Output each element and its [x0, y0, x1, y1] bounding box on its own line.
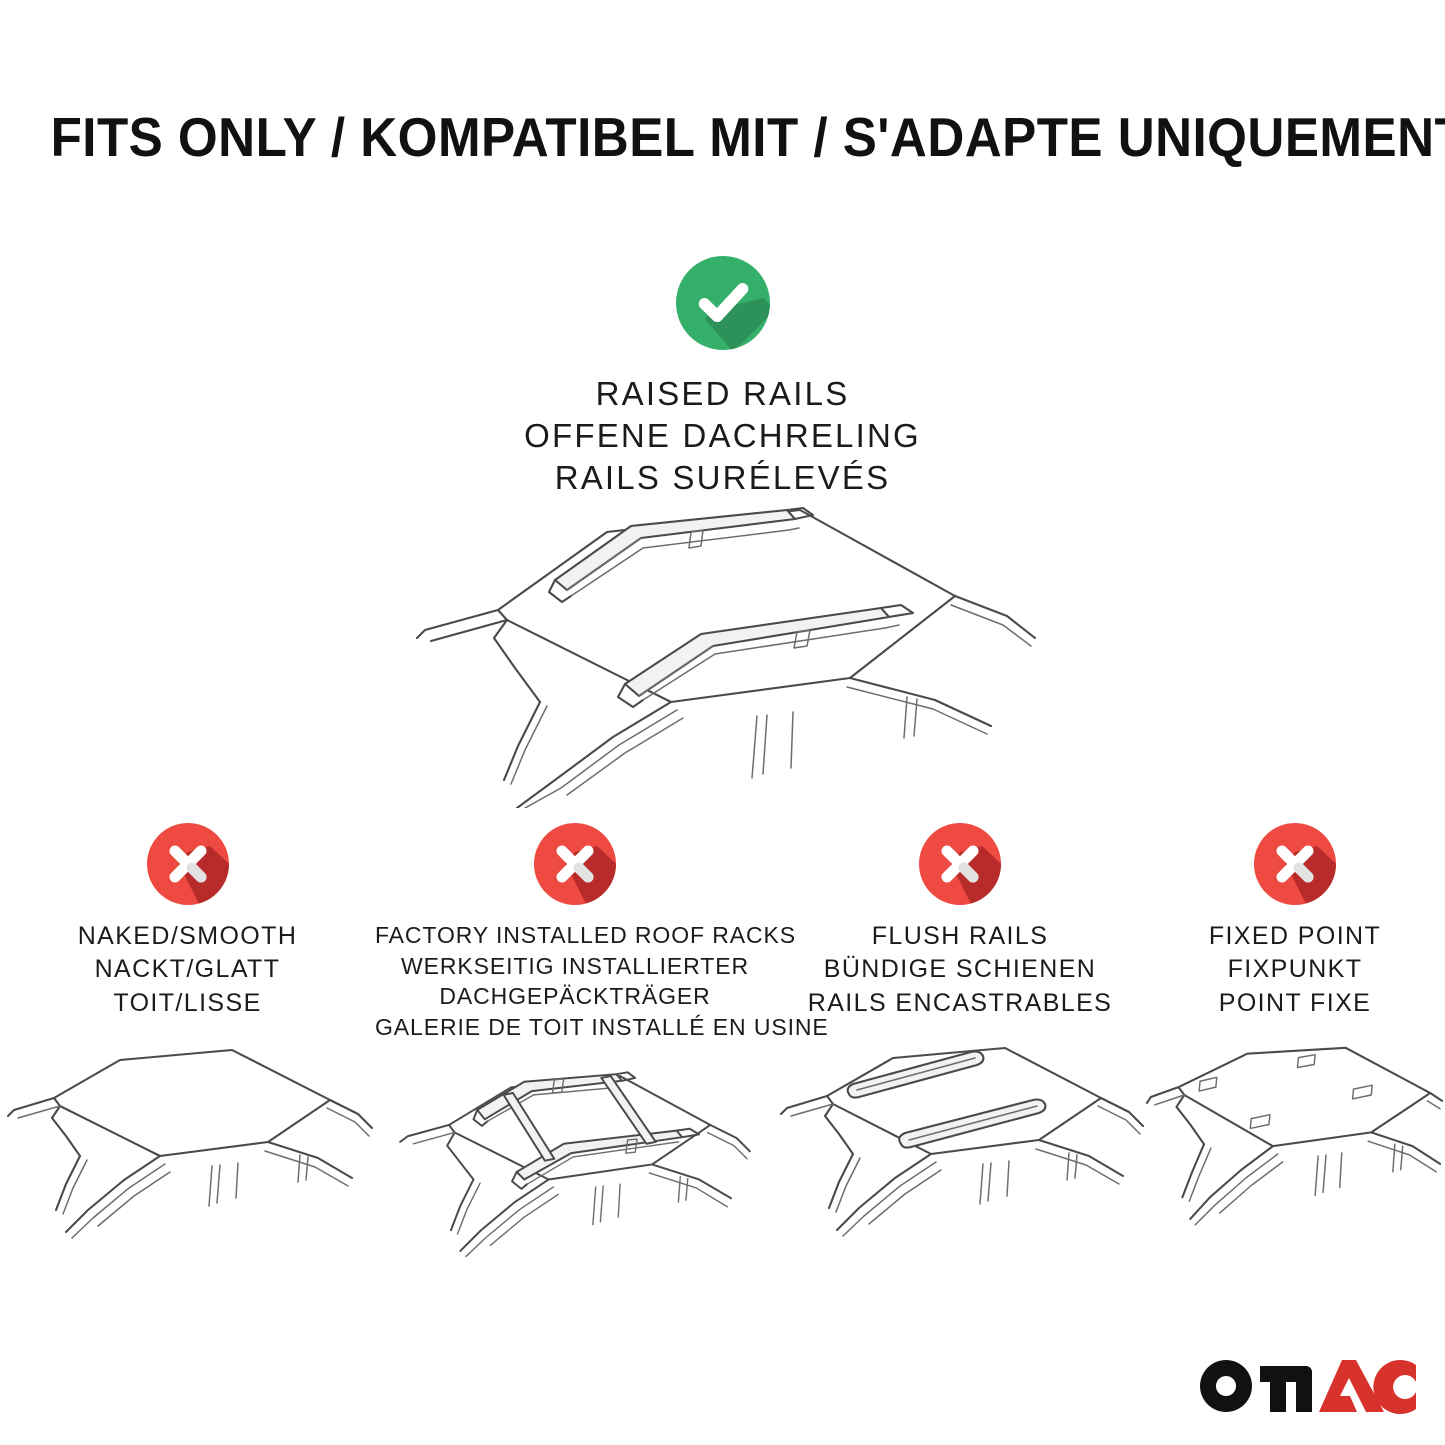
label-en: FIXED POINT: [1145, 920, 1445, 953]
car-roof-naked-smooth-illustration: [0, 1038, 375, 1273]
incompatible-labels-fixed-point: FIXED POINT FIXPUNKT POINT FIXE: [1145, 920, 1445, 1020]
label-fr: GALERIE DE TOIT INSTALLÉ EN USINE: [375, 1012, 775, 1043]
incompatible-item-fixed-point: FIXED POINT FIXPUNKT POINT FIXE: [1145, 812, 1445, 1273]
incompatible-item-flush-rails: FLUSH RAILS BÜNDIGE SCHIENEN RAILS ENCAS…: [775, 812, 1145, 1273]
compatible-label-en: RAISED RAILS: [0, 373, 1445, 415]
label-fr: POINT FIXE: [1145, 987, 1445, 1020]
x-circle-icon: [146, 822, 230, 906]
car-roof-raised-rails-illustration: [395, 488, 1055, 808]
incompatible-labels-flush-rails: FLUSH RAILS BÜNDIGE SCHIENEN RAILS ENCAS…: [775, 920, 1145, 1020]
label-fr: RAILS ENCASTRABLES: [775, 987, 1145, 1020]
label-de-line1: WERKSEITIG INSTALLIERTER: [375, 951, 775, 982]
fitment-infographic: FITS ONLY / KOMPATIBEL MIT / S'ADAPTE UN…: [0, 0, 1445, 1445]
x-circle-icon: [918, 822, 1002, 906]
label-en: FLUSH RAILS: [775, 920, 1145, 953]
incompatible-row: NAKED/SMOOTH NACKT/GLATT TOIT/LISSE: [0, 812, 1445, 1281]
incompatible-item-naked-smooth: NAKED/SMOOTH NACKT/GLATT TOIT/LISSE: [0, 812, 375, 1273]
x-circle-icon: [533, 822, 617, 906]
label-fr: TOIT/LISSE: [0, 987, 375, 1020]
label-de: BÜNDIGE SCHIENEN: [775, 953, 1145, 986]
check-circle-icon: [675, 255, 771, 351]
compatible-labels: RAISED RAILS OFFENE DACHRELING RAILS SUR…: [0, 373, 1445, 500]
incompatible-labels-factory-roof-racks: FACTORY INSTALLED ROOF RACKS WERKSEITIG …: [375, 920, 775, 1042]
page-title: FITS ONLY / KOMPATIBEL MIT / S'ADAPTE UN…: [51, 105, 1395, 169]
omac-logo: [1192, 1352, 1424, 1424]
car-roof-fixed-point-illustration: [1145, 1038, 1445, 1273]
label-de-line2: DACHGEPÄCKTRÄGER: [375, 981, 775, 1012]
car-roof-factory-roof-racks-illustration: [375, 1046, 775, 1281]
compatible-section: RAISED RAILS OFFENE DACHRELING RAILS SUR…: [0, 255, 1445, 500]
x-circle-icon: [1253, 822, 1337, 906]
label-en: FACTORY INSTALLED ROOF RACKS: [375, 920, 775, 951]
label-en: NAKED/SMOOTH: [0, 920, 375, 953]
car-roof-flush-rails-illustration: [775, 1038, 1145, 1273]
label-de: FIXPUNKT: [1145, 953, 1445, 986]
incompatible-item-factory-roof-racks: FACTORY INSTALLED ROOF RACKS WERKSEITIG …: [375, 812, 775, 1281]
compatible-label-de: OFFENE DACHRELING: [0, 415, 1445, 457]
incompatible-labels-naked-smooth: NAKED/SMOOTH NACKT/GLATT TOIT/LISSE: [0, 920, 375, 1020]
label-de: NACKT/GLATT: [0, 953, 375, 986]
